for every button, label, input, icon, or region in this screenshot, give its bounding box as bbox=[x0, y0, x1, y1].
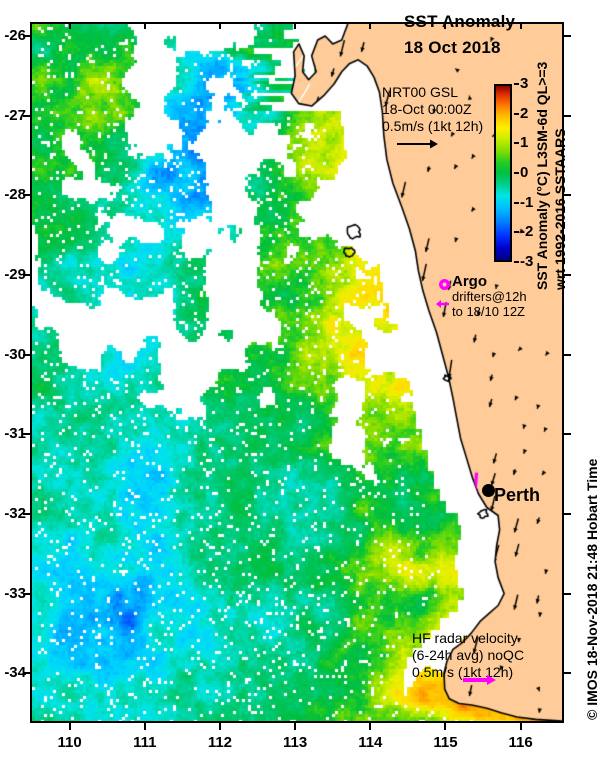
colorbar-title: SST Anomaly (°C) L3SM-6d QL>=3 wrt 1992-… bbox=[520, 60, 544, 290]
map-date: 18 Oct 2018 bbox=[404, 38, 515, 58]
sst-anomaly-map: 110111112113114115116 -26-27-28-29-30-31… bbox=[0, 0, 604, 759]
page-title: SST Anomaly bbox=[404, 12, 515, 32]
colorbar-tick bbox=[514, 172, 519, 174]
y-axis-tick-right bbox=[564, 672, 571, 674]
x-axis-tick-top bbox=[69, 22, 71, 29]
y-axis-tick-label: -28 bbox=[0, 186, 26, 203]
credit-text: © IMOS 18-Nov-2018 21:48 Hobart Time bbox=[580, 430, 600, 730]
colorbar-tick bbox=[514, 83, 519, 85]
x-axis-tick bbox=[144, 723, 146, 730]
x-axis-tick bbox=[444, 723, 446, 730]
argo-circle-marker-icon bbox=[438, 278, 451, 296]
argo-legend-title: Argo bbox=[452, 274, 527, 289]
x-axis-tick-top bbox=[144, 22, 146, 29]
x-axis-tick bbox=[69, 723, 71, 730]
x-axis-tick-label: 116 bbox=[491, 734, 551, 751]
y-axis-tick-label: -34 bbox=[0, 664, 26, 681]
x-axis-tick-label: 111 bbox=[115, 734, 175, 751]
hf-arrow-right-icon bbox=[462, 672, 496, 690]
model-velocity-legend: NRT00 GSL 18-Oct 00:00Z 0.5m/s (1kt 12h) bbox=[382, 84, 483, 154]
argo-legend: Argo drifters@12h to 18/10 12Z bbox=[452, 274, 527, 319]
black-arrow-right-icon bbox=[396, 137, 483, 154]
colorbar-tick bbox=[514, 231, 519, 233]
argo-arrow-left-icon bbox=[436, 296, 450, 314]
y-axis-tick-right bbox=[564, 115, 571, 117]
colorbar-gradient bbox=[494, 84, 512, 262]
y-axis-tick-right bbox=[564, 35, 571, 37]
colorbar-tick bbox=[514, 113, 519, 115]
x-axis-tick-top bbox=[294, 22, 296, 29]
x-axis-tick-label: 110 bbox=[40, 734, 100, 751]
argo-legend-line2: drifters@12h bbox=[452, 289, 527, 304]
colorbar-tick bbox=[514, 261, 519, 263]
x-axis-tick-top bbox=[219, 22, 221, 29]
colorbar bbox=[494, 84, 512, 262]
y-axis-tick-label: -30 bbox=[0, 346, 26, 363]
hf-legend-line1: HF radar velocity bbox=[412, 630, 524, 647]
y-axis-tick-label: -27 bbox=[0, 107, 26, 124]
x-axis-tick-label: 114 bbox=[340, 734, 400, 751]
y-axis-tick-label: -26 bbox=[0, 27, 26, 44]
x-axis-tick-top bbox=[369, 22, 371, 29]
x-axis-tick-label: 112 bbox=[190, 734, 250, 751]
place-label-perth: Perth bbox=[494, 485, 540, 506]
argo-legend-line3: to 18/10 12Z bbox=[452, 304, 527, 319]
colorbar-title-line1: SST Anomaly (°C) L3SM-6d QL>=3 bbox=[534, 62, 550, 290]
colorbar-title-line2: wrt 1992-2016 SSTAARS bbox=[552, 128, 568, 290]
x-axis-tick-label: 113 bbox=[265, 734, 325, 751]
y-axis-tick-right bbox=[564, 593, 571, 595]
x-axis-tick-label: 115 bbox=[415, 734, 475, 751]
y-axis-tick-label: -32 bbox=[0, 505, 26, 522]
credit-label: © IMOS 18-Nov-2018 21:48 Hobart Time bbox=[584, 459, 600, 720]
hf-legend-line2: (6-24h avg) noQC bbox=[412, 647, 524, 664]
model-legend-line1: NRT00 GSL bbox=[382, 84, 483, 101]
x-axis-tick bbox=[294, 723, 296, 730]
y-axis-tick-label: -33 bbox=[0, 585, 26, 602]
x-axis-tick-top bbox=[520, 22, 522, 29]
map-title-block: SST Anomaly 18 Oct 2018 bbox=[404, 12, 515, 58]
x-axis-tick bbox=[520, 723, 522, 730]
y-axis-tick-right bbox=[564, 513, 571, 515]
x-axis-tick bbox=[369, 723, 371, 730]
model-legend-line3: 0.5m/s (1kt 12h) bbox=[382, 118, 483, 135]
model-legend-line2: 18-Oct 00:00Z bbox=[382, 101, 483, 118]
y-axis-tick-right bbox=[564, 433, 571, 435]
y-axis-tick-label: -31 bbox=[0, 425, 26, 442]
colorbar-tick bbox=[514, 142, 519, 144]
colorbar-tick bbox=[514, 202, 519, 204]
map-plot-area bbox=[30, 22, 564, 723]
x-axis-tick bbox=[219, 723, 221, 730]
y-axis-tick-label: -29 bbox=[0, 266, 26, 283]
y-axis-tick-right bbox=[564, 354, 571, 356]
